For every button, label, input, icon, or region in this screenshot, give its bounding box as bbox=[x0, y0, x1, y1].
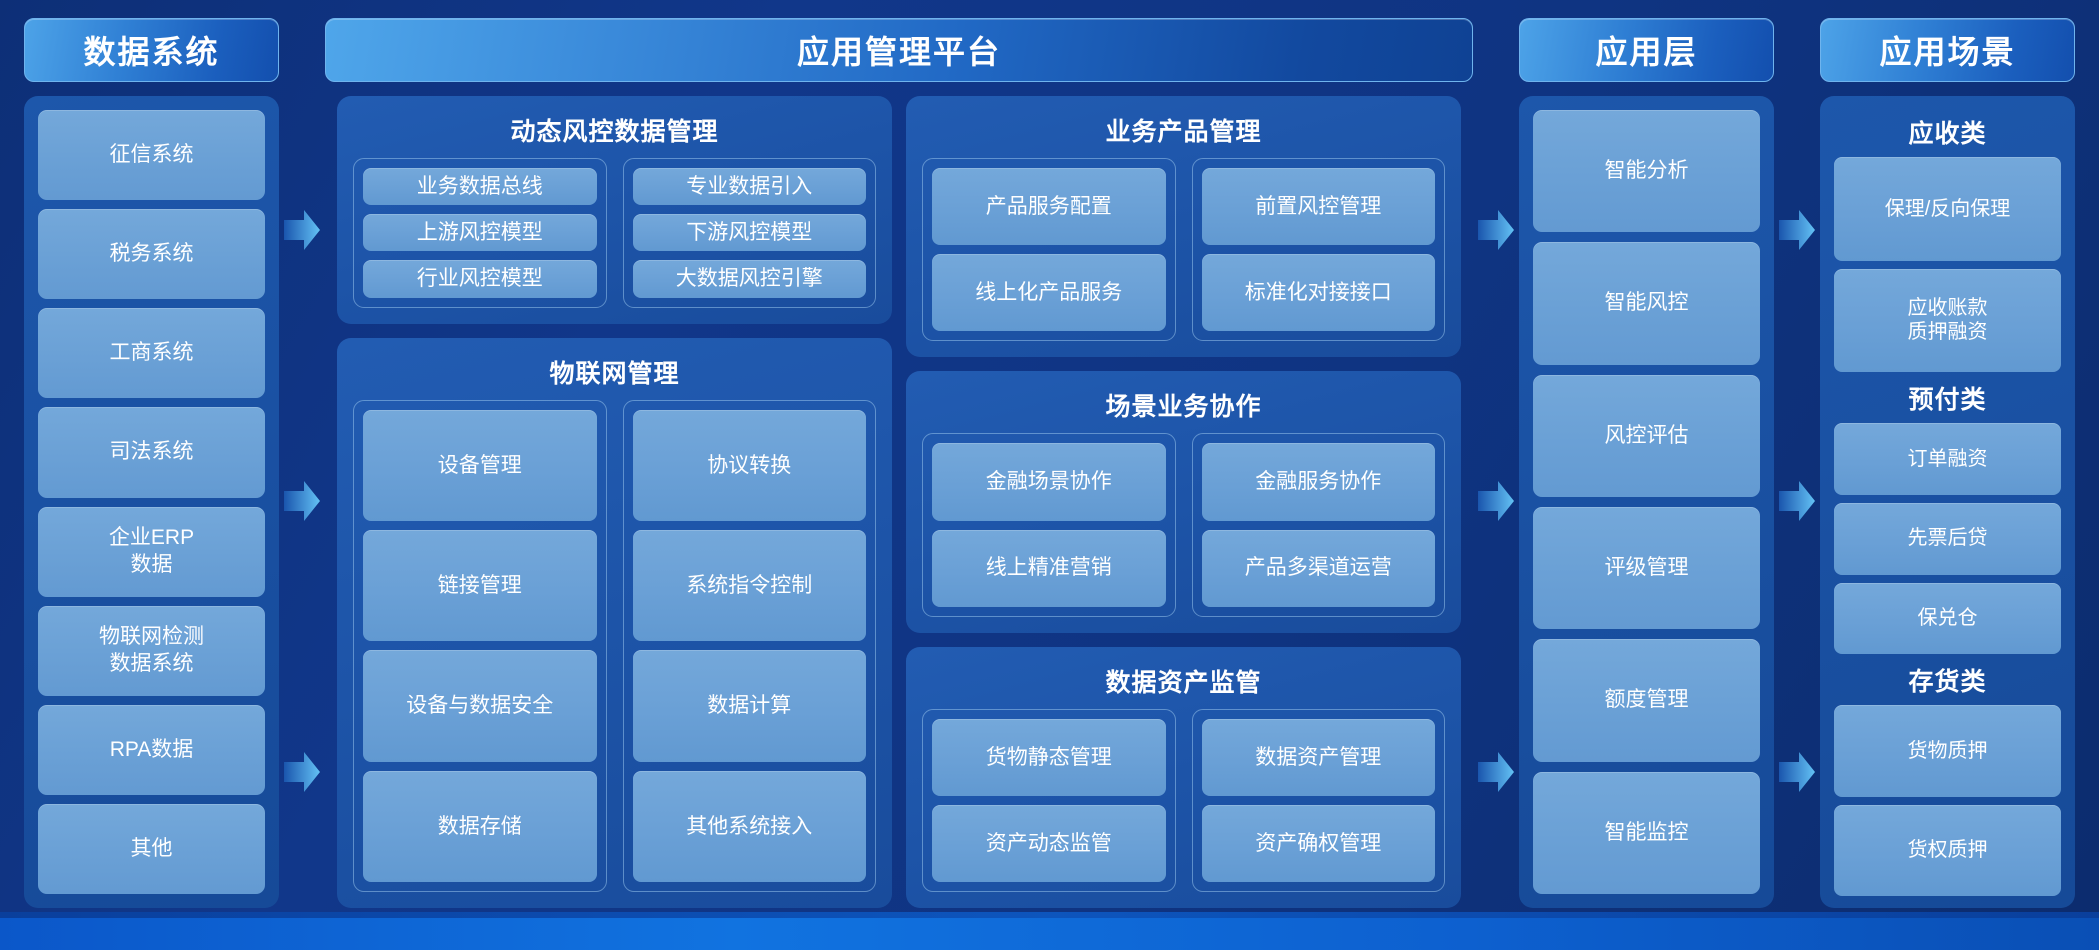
platform-item[interactable]: 设备与数据安全 bbox=[363, 650, 597, 761]
subcard: 专业数据引入 下游风控模型 大数据风控引擎 bbox=[623, 158, 877, 308]
platform-item[interactable]: 下游风控模型 bbox=[633, 214, 867, 251]
platform-item[interactable]: 系统指令控制 bbox=[633, 530, 867, 641]
flow-gutter-1 bbox=[279, 18, 325, 908]
app-layer-panel: 智能分析 智能风控 风控评估 评级管理 额度管理 智能监控 bbox=[1519, 96, 1774, 908]
group-data-asset-supervision: 数据资产监管 货物静态管理 资产动态监管 数据资产管理 资产确权管理 bbox=[906, 647, 1461, 908]
app-scene-panel: 应收类 保理/反向保理 应收账款质押融资 预付类 订单融资 先票后贷 保兑仓 bbox=[1820, 96, 2075, 908]
scene-group-title: 应收类 bbox=[1834, 106, 2061, 157]
scene-item[interactable]: 应收账款质押融资 bbox=[1834, 269, 2061, 373]
scene-item[interactable]: 订单融资 bbox=[1834, 423, 2061, 495]
platform-item[interactable]: 专业数据引入 bbox=[633, 168, 867, 205]
column-data-system: 数据系统 征信系统 税务系统 工商系统 司法系统 企业ERP数据 物联网检测数据… bbox=[24, 18, 279, 908]
platform-item[interactable]: 线上化产品服务 bbox=[932, 254, 1166, 331]
right-arrow-icon bbox=[1476, 207, 1516, 253]
data-system-item[interactable]: 司法系统 bbox=[38, 407, 265, 497]
platform-item[interactable]: 上游风控模型 bbox=[363, 214, 597, 251]
subcard: 金融服务协作 产品多渠道运营 bbox=[1192, 433, 1446, 616]
right-arrow-icon bbox=[282, 207, 322, 253]
scene-item[interactable]: 货权质押 bbox=[1834, 805, 2061, 896]
group-scene-collaboration: 场景业务协作 金融场景协作 线上精准营销 金融服务协作 产品多渠道运营 bbox=[906, 371, 1461, 632]
platform-item[interactable]: 其他系统接入 bbox=[633, 771, 867, 882]
bottom-accent-strip bbox=[0, 918, 2099, 950]
scene-group-prepaid: 预付类 订单融资 先票后贷 保兑仓 bbox=[1834, 372, 2061, 654]
architecture-layout: 数据系统 征信系统 税务系统 工商系统 司法系统 企业ERP数据 物联网检测数据… bbox=[0, 0, 2099, 908]
data-system-panel: 征信系统 税务系统 工商系统 司法系统 企业ERP数据 物联网检测数据系统 RP… bbox=[24, 96, 279, 908]
scene-item[interactable]: 保理/反向保理 bbox=[1834, 157, 2061, 261]
data-system-item[interactable]: 企业ERP数据 bbox=[38, 507, 265, 597]
data-system-item[interactable]: 工商系统 bbox=[38, 308, 265, 398]
app-layer-item[interactable]: 智能监控 bbox=[1533, 772, 1760, 894]
right-arrow-icon bbox=[1777, 749, 1817, 795]
platform-item[interactable]: 线上精准营销 bbox=[932, 530, 1166, 607]
column-app-scene: 应用场景 应收类 保理/反向保理 应收账款质押融资 预付类 订单融资 先票后贷 … bbox=[1820, 18, 2075, 908]
scene-group-title: 存货类 bbox=[1834, 654, 2061, 705]
subcard: 金融场景协作 线上精准营销 bbox=[922, 433, 1176, 616]
platform-item[interactable]: 资产确权管理 bbox=[1202, 805, 1436, 882]
data-system-item[interactable]: RPA数据 bbox=[38, 705, 265, 795]
right-arrow-icon bbox=[282, 478, 322, 524]
platform-item[interactable]: 数据资产管理 bbox=[1202, 719, 1436, 796]
platform-item[interactable]: 货物静态管理 bbox=[932, 719, 1166, 796]
diagram-canvas: 数据系统 征信系统 税务系统 工商系统 司法系统 企业ERP数据 物联网检测数据… bbox=[0, 0, 2099, 950]
column-app-layer: 应用层 智能分析 智能风控 风控评估 评级管理 额度管理 智能监控 bbox=[1519, 18, 1774, 908]
group-dynamic-risk-data: 动态风控数据管理 业务数据总线 上游风控模型 行业风控模型 专业数据引入 下游风… bbox=[337, 96, 892, 324]
app-layer-item[interactable]: 评级管理 bbox=[1533, 507, 1760, 629]
app-layer-item[interactable]: 额度管理 bbox=[1533, 639, 1760, 761]
scene-item[interactable]: 先票后贷 bbox=[1834, 503, 2061, 575]
subcard: 业务数据总线 上游风控模型 行业风控模型 bbox=[353, 158, 607, 308]
right-arrow-icon bbox=[282, 749, 322, 795]
platform-item[interactable]: 前置风控管理 bbox=[1202, 168, 1436, 245]
flow-gutter-2 bbox=[1473, 18, 1519, 908]
group-title: 场景业务协作 bbox=[922, 383, 1445, 433]
data-system-item[interactable]: 其他 bbox=[38, 804, 265, 894]
platform-item[interactable]: 产品多渠道运营 bbox=[1202, 530, 1436, 607]
platform-item[interactable]: 标准化对接接口 bbox=[1202, 254, 1436, 331]
scene-item[interactable]: 货物质押 bbox=[1834, 705, 2061, 796]
scene-group-inventory: 存货类 货物质押 货权质押 bbox=[1834, 654, 2061, 896]
header-app-layer: 应用层 bbox=[1519, 18, 1774, 82]
platform-item[interactable]: 链接管理 bbox=[363, 530, 597, 641]
platform-item[interactable]: 金融场景协作 bbox=[932, 443, 1166, 520]
platform-item[interactable]: 资产动态监管 bbox=[932, 805, 1166, 882]
group-business-product: 业务产品管理 产品服务配置 线上化产品服务 前置风控管理 标准化对接接口 bbox=[906, 96, 1461, 357]
header-app-scene: 应用场景 bbox=[1820, 18, 2075, 82]
column-platform: 应用管理平台 动态风控数据管理 业务数据总线 上游风控模型 行业风控模型 bbox=[325, 18, 1473, 908]
right-arrow-icon bbox=[1777, 207, 1817, 253]
scene-group-receivable: 应收类 保理/反向保理 应收账款质押融资 bbox=[1834, 106, 2061, 372]
right-arrow-icon bbox=[1476, 749, 1516, 795]
scene-group-title: 预付类 bbox=[1834, 372, 2061, 423]
platform-item[interactable]: 业务数据总线 bbox=[363, 168, 597, 205]
group-title: 数据资产监管 bbox=[922, 659, 1445, 709]
app-layer-item[interactable]: 智能风控 bbox=[1533, 242, 1760, 364]
group-iot-management: 物联网管理 设备管理 链接管理 设备与数据安全 数据存储 协议转换 系统指令控制 bbox=[337, 338, 892, 908]
scene-item[interactable]: 保兑仓 bbox=[1834, 583, 2061, 655]
platform-item[interactable]: 数据存储 bbox=[363, 771, 597, 882]
group-title: 物联网管理 bbox=[353, 350, 876, 400]
app-layer-item[interactable]: 风控评估 bbox=[1533, 375, 1760, 497]
group-title: 动态风控数据管理 bbox=[353, 108, 876, 158]
platform-item[interactable]: 产品服务配置 bbox=[932, 168, 1166, 245]
right-arrow-icon bbox=[1476, 478, 1516, 524]
platform-body: 动态风控数据管理 业务数据总线 上游风控模型 行业风控模型 专业数据引入 下游风… bbox=[325, 96, 1473, 908]
platform-col-right: 业务产品管理 产品服务配置 线上化产品服务 前置风控管理 标准化对接接口 bbox=[906, 96, 1461, 908]
platform-item[interactable]: 行业风控模型 bbox=[363, 260, 597, 297]
platform-item[interactable]: 设备管理 bbox=[363, 410, 597, 521]
subcard: 设备管理 链接管理 设备与数据安全 数据存储 bbox=[353, 400, 607, 892]
platform-item[interactable]: 协议转换 bbox=[633, 410, 867, 521]
subcard: 货物静态管理 资产动态监管 bbox=[922, 709, 1176, 892]
flow-gutter-3 bbox=[1774, 18, 1820, 908]
data-system-item[interactable]: 征信系统 bbox=[38, 110, 265, 200]
subcard: 产品服务配置 线上化产品服务 bbox=[922, 158, 1176, 341]
app-layer-item[interactable]: 智能分析 bbox=[1533, 110, 1760, 232]
platform-item[interactable]: 大数据风控引擎 bbox=[633, 260, 867, 297]
data-system-item[interactable]: 税务系统 bbox=[38, 209, 265, 299]
subcard: 数据资产管理 资产确权管理 bbox=[1192, 709, 1446, 892]
subcard: 协议转换 系统指令控制 数据计算 其他系统接入 bbox=[623, 400, 877, 892]
subcard: 前置风控管理 标准化对接接口 bbox=[1192, 158, 1446, 341]
platform-item[interactable]: 金融服务协作 bbox=[1202, 443, 1436, 520]
data-system-item[interactable]: 物联网检测数据系统 bbox=[38, 606, 265, 696]
platform-item[interactable]: 数据计算 bbox=[633, 650, 867, 761]
group-title: 业务产品管理 bbox=[922, 108, 1445, 158]
platform-col-left: 动态风控数据管理 业务数据总线 上游风控模型 行业风控模型 专业数据引入 下游风… bbox=[337, 96, 892, 908]
right-arrow-icon bbox=[1777, 478, 1817, 524]
header-platform: 应用管理平台 bbox=[325, 18, 1473, 82]
header-data-system: 数据系统 bbox=[24, 18, 279, 82]
